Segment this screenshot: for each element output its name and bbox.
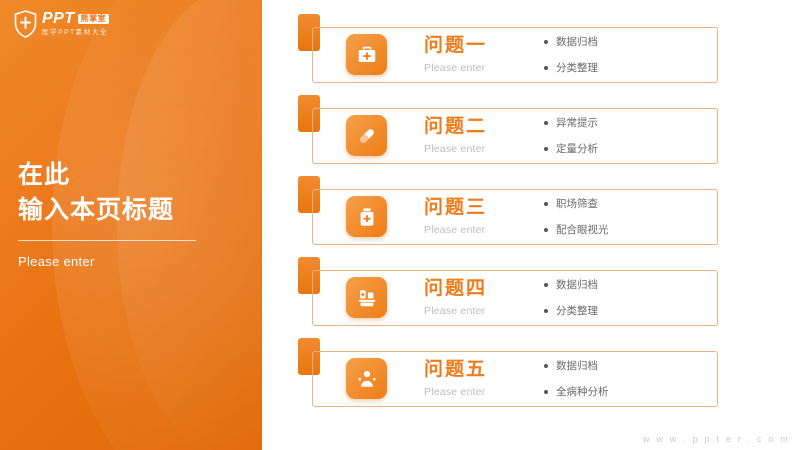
row-subtitle: Please enter xyxy=(424,305,544,317)
logo: PPT 熊掌室 医学PPT素材大全 xyxy=(14,10,109,38)
bullet-dot-icon xyxy=(544,309,548,313)
row-subtitle: Please enter xyxy=(424,224,544,236)
row-title: 问题五 xyxy=(424,360,544,379)
bullet-dot-icon xyxy=(544,121,548,125)
watermark: w w w . p p t e r . c o m xyxy=(643,434,790,444)
bullet-dot-icon xyxy=(544,283,548,287)
bullet-item: 异常提示 xyxy=(544,115,598,130)
list-item[interactable]: 问题一 Please enter 数据归档 分类整理 xyxy=(298,14,788,95)
row-heading: 问题一 Please enter xyxy=(424,36,544,74)
bullet-dot-icon xyxy=(544,66,548,70)
row-bullets: 数据归档 分类整理 xyxy=(544,277,598,329)
row-title: 问题二 xyxy=(424,117,544,136)
row-subtitle: Please enter xyxy=(424,62,544,74)
left-title-panel: PPT 熊掌室 医学PPT素材大全 在此 输入本页标题 Please enter xyxy=(0,0,262,450)
bullet-text: 数据归档 xyxy=(556,277,598,292)
bullet-text: 分类整理 xyxy=(556,60,598,75)
bullet-dot-icon xyxy=(544,40,548,44)
logo-text: PPT 熊掌室 医学PPT素材大全 xyxy=(42,11,109,37)
bullet-item: 职场筛查 xyxy=(544,196,609,211)
row-title: 问题一 xyxy=(424,36,544,55)
row-subtitle: Please enter xyxy=(424,386,544,398)
bullet-text: 数据归档 xyxy=(556,34,598,49)
page-title: 在此 输入本页标题 Please enter xyxy=(18,158,238,269)
list-item[interactable]: 问题二 Please enter 异常提示 定量分析 xyxy=(298,95,788,176)
row-heading: 问题五 Please enter xyxy=(424,360,544,398)
bullet-text: 数据归档 xyxy=(556,358,598,373)
page-subtitle: Please enter xyxy=(18,254,238,269)
page-title-line-1: 在此 xyxy=(18,158,238,193)
row-bullets: 职场筛查 配合眼视光 xyxy=(544,196,609,248)
logo-tagline: 医学PPT素材大全 xyxy=(42,30,109,37)
row-bullets: 异常提示 定量分析 xyxy=(544,115,598,167)
row-bullets: 数据归档 全病种分析 xyxy=(544,358,609,410)
list-item[interactable]: 问题三 Please enter 职场筛查 配合眼视光 xyxy=(298,176,788,257)
logo-brand: PPT xyxy=(42,11,75,27)
bullet-item: 定量分析 xyxy=(544,141,598,156)
bullet-text: 职场筛查 xyxy=(556,196,598,211)
row-title: 问题三 xyxy=(424,198,544,217)
page-title-line-2: 输入本页标题 xyxy=(18,193,238,228)
bullet-dot-icon xyxy=(544,364,548,368)
content-rows: 问题一 Please enter 数据归档 分类整理 xyxy=(298,14,788,419)
bullet-text: 异常提示 xyxy=(556,115,598,130)
bullet-text: 全病种分析 xyxy=(556,384,609,399)
medical-kit-icon xyxy=(346,34,387,75)
microscope-icon xyxy=(346,277,387,318)
row-heading: 问题三 Please enter xyxy=(424,198,544,236)
list-item[interactable]: 问题四 Please enter 数据归档 分类整理 xyxy=(298,257,788,338)
bullet-item: 配合眼视光 xyxy=(544,222,609,237)
bullet-item: 分类整理 xyxy=(544,303,598,318)
bullet-dot-icon xyxy=(544,202,548,206)
capsule-pill-icon xyxy=(346,115,387,156)
bullet-item: 数据归档 xyxy=(544,277,598,292)
medicine-bottle-icon xyxy=(346,196,387,237)
bullet-text: 配合眼视光 xyxy=(556,222,609,237)
row-subtitle: Please enter xyxy=(424,143,544,155)
row-bullets: 数据归档 分类整理 xyxy=(544,34,598,86)
bullet-item: 全病种分析 xyxy=(544,384,609,399)
bullet-item: 分类整理 xyxy=(544,60,598,75)
row-title: 问题四 xyxy=(424,279,544,298)
row-heading: 问题四 Please enter xyxy=(424,279,544,317)
bullet-item: 数据归档 xyxy=(544,358,609,373)
list-item[interactable]: 问题五 Please enter 数据归档 全病种分析 xyxy=(298,338,788,419)
bullet-item: 数据归档 xyxy=(544,34,598,49)
title-divider xyxy=(18,240,196,241)
row-heading: 问题二 Please enter xyxy=(424,117,544,155)
bullet-text: 定量分析 xyxy=(556,141,598,156)
shield-icon xyxy=(14,10,37,38)
bullet-dot-icon xyxy=(544,390,548,394)
bullet-text: 分类整理 xyxy=(556,303,598,318)
bullet-dot-icon xyxy=(544,147,548,151)
bullet-dot-icon xyxy=(544,228,548,232)
logo-badge: 熊掌室 xyxy=(78,14,110,24)
stethoscope-icon xyxy=(346,358,387,399)
